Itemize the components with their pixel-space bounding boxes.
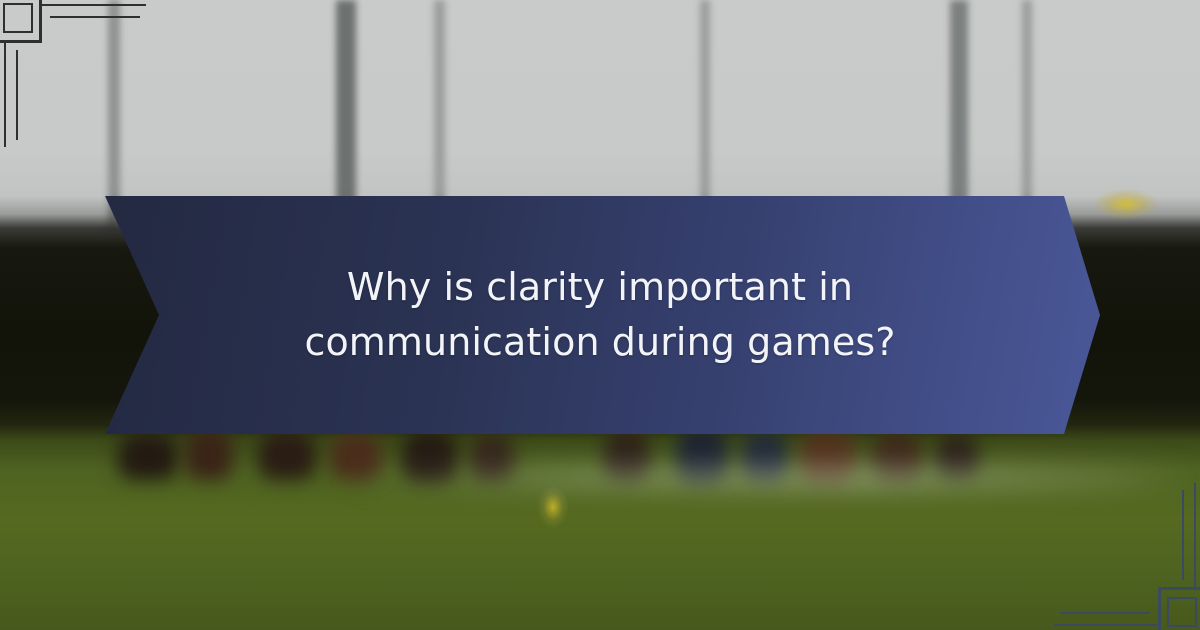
headline-text: Why is clarity important in communicatio… <box>160 260 1040 370</box>
share-card: Why is clarity important in communicatio… <box>0 0 1200 630</box>
headline-banner: Why is clarity important in communicatio… <box>100 196 1100 434</box>
pitch-touchline <box>0 470 1200 486</box>
